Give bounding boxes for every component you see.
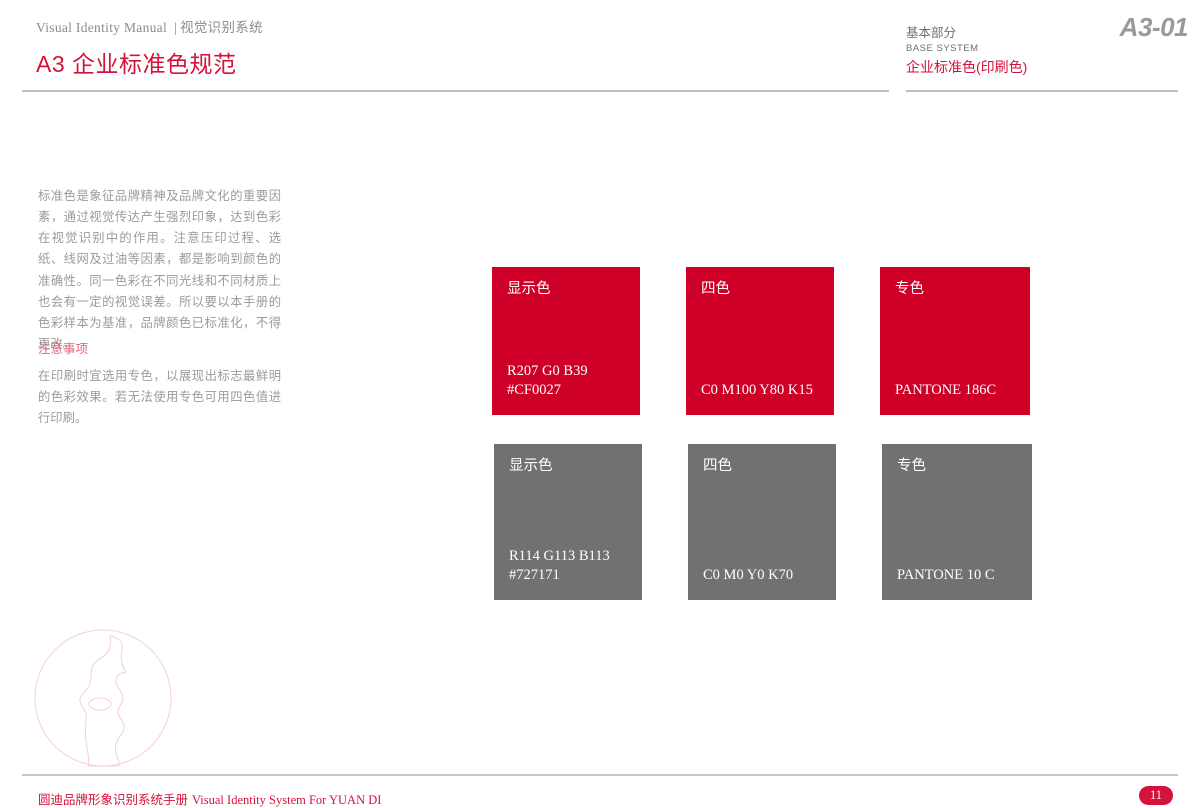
page-number-badge: 11 xyxy=(1139,786,1173,805)
section-label-en: BASE SYSTEM xyxy=(906,42,1176,55)
section-title: 企业标准色(印刷色) xyxy=(906,57,1176,77)
header-left: Visual Identity Manual | 视觉识别系统 A3 企业标准色… xyxy=(36,16,536,79)
page-code: A3-01 xyxy=(1120,12,1188,43)
swatch-red-display: 显示色 R207 G0 B39 #CF0027 xyxy=(492,267,640,415)
swatch-gray-cmyk: 四色 C0 M0 Y0 K70 xyxy=(688,444,836,600)
swatch-value: R207 G0 B39 #CF0027 xyxy=(507,362,588,401)
intro-paragraph: 标准色是象征品牌精神及品牌文化的重要因素，通过视觉传达产生强烈印象，达到色彩在视… xyxy=(38,186,281,355)
swatch-label: 专色 xyxy=(897,458,1017,475)
notice-paragraph: 在印刷时宜选用专色，以展现出标志最鲜明的色彩效果。若无法使用专色可用四色值进行印… xyxy=(38,366,281,429)
swatch-gray-spot: 专色 PANTONE 10 C xyxy=(882,444,1032,600)
swatch-value: PANTONE 186C xyxy=(895,381,996,401)
page-title: A3 企业标准色规范 xyxy=(36,45,536,79)
footer-brand: 圆迪品牌形象识别系统手册Visual Identity System For Y… xyxy=(38,789,381,808)
swatch-value: C0 M0 Y0 K70 xyxy=(703,566,793,586)
swatch-gray-display: 显示色 R114 G113 B113 #727171 xyxy=(494,444,642,600)
swatch-label: 显示色 xyxy=(507,281,625,298)
swatch-label: 四色 xyxy=(701,281,819,298)
swatch-label: 专色 xyxy=(895,281,1015,298)
swatch-value: C0 M100 Y80 K15 xyxy=(701,381,813,401)
brand-mark-icon xyxy=(28,628,178,768)
notice-heading: 注意事项 xyxy=(38,338,281,357)
swatch-red-cmyk: 四色 C0 M100 Y80 K15 xyxy=(686,267,834,415)
footer-brand-cn: 圆迪品牌形象识别系统手册 xyxy=(38,793,188,807)
header-divider-left xyxy=(22,90,889,92)
swatch-red-spot: 专色 PANTONE 186C xyxy=(880,267,1030,415)
watermark-logo xyxy=(28,628,178,768)
intro-block: 标准色是象征品牌精神及品牌文化的重要因素，通过视觉传达产生强烈印象，达到色彩在视… xyxy=(38,186,281,355)
notice-block: 注意事项 在印刷时宜选用专色，以展现出标志最鲜明的色彩效果。若无法使用专色可用四… xyxy=(38,338,281,429)
manual-kicker: Visual Identity Manual | 视觉识别系统 xyxy=(36,16,536,36)
swatch-value: PANTONE 10 C xyxy=(897,566,995,586)
swatch-label: 显示色 xyxy=(509,458,627,475)
swatch-value: R114 G113 B113 #727171 xyxy=(509,547,610,586)
swatch-label: 四色 xyxy=(703,458,821,475)
footer-brand-en: Visual Identity System For YUAN DI xyxy=(188,793,381,807)
footer-divider xyxy=(22,774,1178,776)
header-divider-right xyxy=(906,90,1178,92)
